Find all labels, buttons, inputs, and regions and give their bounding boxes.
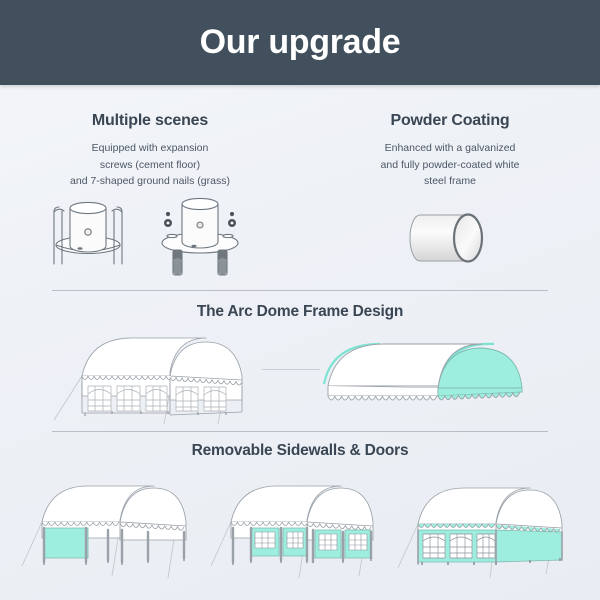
feature-description-line: Enhanced with a galvanized [318, 140, 582, 157]
page-root: Our upgrade Multiple scenes Equipped wit… [0, 0, 600, 600]
tent-arc-dome-teal-highlight-icon [310, 332, 560, 424]
feature-description: Enhanced with a galvanized and fully pow… [318, 140, 582, 190]
feature-multiple-scenes: Multiple scenes Equipped with expansion … [0, 112, 300, 190]
pole-base-illustration [40, 192, 260, 284]
tent-arc-dome-with-windows-icon [52, 328, 302, 424]
feature-description: Equipped with expansion screws (cement f… [18, 140, 282, 190]
tent-open-frame-one-sidewall-icon [18, 470, 204, 582]
section-divider [52, 290, 548, 291]
page-title: Our upgrade [200, 23, 401, 62]
section-title-removable-sidewalls: Removable Sidewalls & Doors [0, 442, 600, 460]
feature-illustrations-row [0, 192, 600, 284]
powder-coating-illustration-cell [300, 192, 600, 284]
sidewall-illustration-2-cell [207, 470, 393, 582]
feature-description-line: steel frame [318, 173, 582, 190]
feature-description-line: and 7-shaped ground nails (grass) [18, 173, 282, 190]
feature-title: Powder Coating [318, 112, 582, 130]
feature-description-line: Equipped with expansion [18, 140, 282, 157]
feature-powder-coating: Powder Coating Enhanced with a galvanize… [300, 112, 600, 190]
section-title-arc-dome: The Arc Dome Frame Design [0, 303, 600, 321]
feature-title: Multiple scenes [18, 112, 282, 130]
section-divider [52, 431, 548, 432]
steel-tube-icon [390, 199, 510, 277]
page-header: Our upgrade [0, 0, 600, 85]
sidewall-illustration-1-cell [18, 470, 204, 582]
feature-description-line: screws (cement floor) [18, 157, 282, 174]
ground-nail-base-icon [54, 202, 122, 264]
arc-dome-illustrations-row [0, 328, 600, 426]
sidewall-illustration-3-cell [396, 470, 582, 582]
feature-description-line: and fully powder-coated white [318, 157, 582, 174]
tent-partial-sidewalls-icon [207, 470, 393, 582]
sidewall-illustrations-row [0, 470, 600, 582]
expansion-screw-base-icon [162, 198, 238, 275]
feature-columns: Multiple scenes Equipped with expansion … [0, 112, 600, 190]
tent-fully-enclosed-icon [396, 470, 582, 582]
multiple-scenes-illustration-cell [0, 192, 300, 284]
